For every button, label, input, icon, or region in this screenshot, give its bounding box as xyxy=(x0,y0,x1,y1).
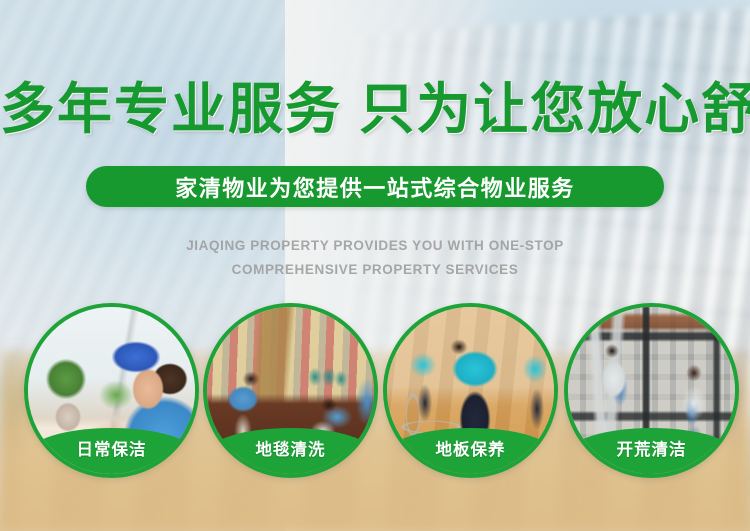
service-label-text: 开荒清洁 xyxy=(617,436,687,460)
english-subtitle-line-1: JIAQING PROPERTY PROVIDES YOU WITH ONE-S… xyxy=(0,234,750,258)
service-label-daily-cleaning: 日常保洁 xyxy=(28,428,195,474)
service-label-text: 地板保养 xyxy=(436,436,506,460)
subtitle-pill-wrapper: 家清物业为您提供一站式综合物业服务 xyxy=(0,166,750,207)
subtitle-pill-text: 家清物业为您提供一站式综合物业服务 xyxy=(175,171,575,203)
service-label-carpet-cleaning: 地毯清洗 xyxy=(207,428,374,474)
service-label-move-in-cleaning: 开荒清洁 xyxy=(568,428,735,474)
subtitle-pill: 家清物业为您提供一站式综合物业服务 xyxy=(86,166,664,207)
service-card-carpet-cleaning[interactable]: 地毯清洗 xyxy=(203,303,378,478)
english-subtitle-line-2: COMPREHENSIVE PROPERTY SERVICES xyxy=(0,258,750,282)
banner-headline: 多年专业服务 只为让您放心舒心 xyxy=(0,82,750,137)
service-label-floor-maintenance: 地板保养 xyxy=(387,428,554,474)
english-subtitle: JIAQING PROPERTY PROVIDES YOU WITH ONE-S… xyxy=(0,234,750,282)
service-card-daily-cleaning[interactable]: 日常保洁 xyxy=(24,303,199,478)
promotional-banner: 多年专业服务 只为让您放心舒心 家清物业为您提供一站式综合物业服务 JIAQIN… xyxy=(0,0,750,531)
service-label-text: 日常保洁 xyxy=(77,436,147,460)
service-label-text: 地毯清洗 xyxy=(256,436,326,460)
service-card-list: 日常保洁 地毯清洗 地板保养 开荒清洁 xyxy=(0,303,750,481)
service-card-floor-maintenance[interactable]: 地板保养 xyxy=(383,303,558,478)
service-card-move-in-cleaning[interactable]: 开荒清洁 xyxy=(564,303,739,478)
